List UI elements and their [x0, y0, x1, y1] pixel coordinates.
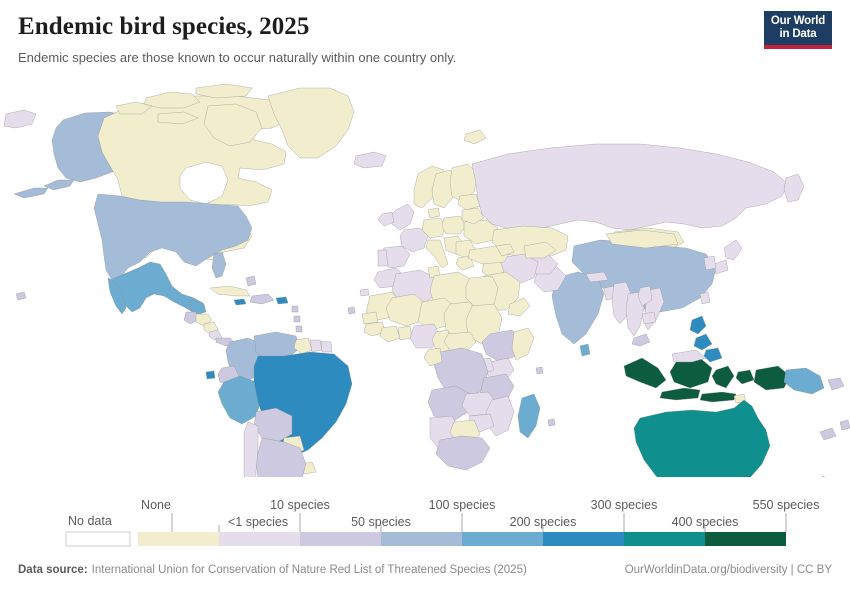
owid-logo-line2: in Data: [780, 28, 817, 41]
legend-swatch-none[interactable]: [138, 532, 219, 546]
island-mauritius[interactable]: [548, 419, 555, 426]
country-sumatra[interactable]: [624, 358, 666, 388]
legend-swatch-50[interactable]: [381, 532, 462, 546]
country-south-africa[interactable]: [436, 436, 490, 470]
country-papua-new-guinea[interactable]: [784, 368, 824, 394]
world-choropleth-map[interactable]: [0, 82, 850, 477]
country-greenland[interactable]: [268, 88, 354, 158]
country-japan[interactable]: [724, 240, 742, 260]
country-suriname[interactable]: [310, 340, 322, 352]
country-us-florida[interactable]: [212, 252, 226, 278]
legend-label-550: 550 species: [753, 498, 820, 512]
island-svalbard[interactable]: [464, 130, 486, 144]
country-sulawesi[interactable]: [712, 366, 734, 388]
legend-label-lt1: <1 species: [228, 515, 288, 529]
data-source-text: International Union for Conservation of …: [92, 564, 527, 576]
country-philippines-1[interactable]: [690, 316, 706, 334]
country-lesser-sunda[interactable]: [700, 392, 736, 402]
country-philippines-3[interactable]: [704, 348, 722, 362]
country-russia[interactable]: [472, 144, 788, 230]
country-united-states[interactable]: [94, 194, 252, 280]
legend-swatch-400[interactable]: [705, 532, 786, 546]
island-cape-verde[interactable]: [348, 307, 355, 314]
country-madagascar[interactable]: [518, 394, 540, 438]
country-bolivia[interactable]: [254, 408, 292, 442]
country-philippines-2[interactable]: [694, 334, 712, 350]
country-united-kingdom[interactable]: [392, 204, 414, 230]
legend-no-data-swatch[interactable]: [66, 532, 130, 546]
country-aleutians-west[interactable]: [14, 188, 48, 198]
country-senegal[interactable]: [362, 312, 378, 324]
country-baltics[interactable]: [458, 194, 480, 210]
country-java[interactable]: [660, 388, 700, 400]
country-iceland[interactable]: [354, 152, 386, 168]
country-hispaniola[interactable]: [250, 294, 274, 304]
chart-footer: Data source: International Union for Con…: [18, 564, 832, 576]
chart-header: Endemic bird species, 2025 Endemic speci…: [18, 12, 832, 66]
country-french-guiana[interactable]: [321, 341, 332, 352]
country-australia[interactable]: [634, 400, 770, 477]
country-cambodia[interactable]: [642, 312, 656, 324]
country-jamaica[interactable]: [234, 299, 246, 305]
page-title: Endemic bird species, 2025: [18, 12, 832, 42]
legend-label-10: 10 species: [270, 498, 330, 512]
legend-swatch-300[interactable]: [624, 532, 705, 546]
country-lesser-antilles-3[interactable]: [296, 326, 302, 332]
country-solomon-islands[interactable]: [828, 378, 844, 390]
country-borneo-indonesia[interactable]: [670, 358, 712, 388]
legend-label-400: 400 species: [672, 515, 739, 529]
legend-swatch-lt1[interactable]: [219, 532, 300, 546]
country-taiwan[interactable]: [700, 292, 710, 304]
country-bahamas[interactable]: [246, 276, 256, 286]
island-hawaii[interactable]: [16, 292, 26, 300]
country-cote-divoire[interactable]: [380, 326, 400, 342]
country-somalia[interactable]: [512, 328, 534, 360]
country-maluku[interactable]: [736, 370, 754, 384]
country-cuba[interactable]: [210, 286, 250, 296]
country-lesser-antilles-1[interactable]: [292, 306, 298, 312]
legend-swatch-200[interactable]: [543, 532, 624, 546]
country-lesser-antilles-2[interactable]: [294, 316, 300, 322]
legend-label-50: 50 species: [351, 515, 411, 529]
country-denmark[interactable]: [428, 208, 440, 218]
country-chukotka-wrap[interactable]: [4, 110, 36, 128]
country-japan-south[interactable]: [714, 260, 728, 274]
legend-label-300: 300 species: [591, 498, 658, 512]
legend-label-200: 200 species: [510, 515, 577, 529]
country-aleutians[interactable]: [44, 180, 74, 190]
country-new-caledonia[interactable]: [820, 428, 836, 440]
country-malaysia[interactable]: [632, 334, 650, 346]
country-sri-lanka[interactable]: [580, 344, 590, 356]
country-italy[interactable]: [426, 240, 448, 268]
legend-swatch-10[interactable]: [300, 532, 381, 546]
footer-attribution[interactable]: OurWorldinData.org/biodiversity | CC BY: [625, 564, 832, 576]
island-canaries[interactable]: [360, 289, 369, 296]
data-source-label: Data source:: [18, 564, 88, 576]
country-nepal[interactable]: [586, 272, 608, 282]
map-legend[interactable]: No data None <1 species 10 species 50 sp…: [0, 495, 850, 557]
legend-no-data-label: No data: [68, 514, 112, 528]
country-new-zealand-north[interactable]: [810, 476, 830, 477]
country-fiji[interactable]: [840, 420, 850, 430]
country-kamchatka[interactable]: [784, 174, 804, 202]
island-galapagos[interactable]: [206, 371, 215, 379]
legend-label-100: 100 species: [429, 498, 496, 512]
island-seychelles[interactable]: [536, 367, 543, 374]
legend-swatch-100[interactable]: [462, 532, 543, 546]
country-ireland[interactable]: [378, 212, 394, 226]
country-korea[interactable]: [704, 256, 716, 270]
country-guyana[interactable]: [294, 338, 312, 354]
country-puerto-rico[interactable]: [276, 297, 288, 304]
legend-label-none: None: [141, 498, 171, 512]
chart-subtitle: Endemic species are those known to occur…: [18, 49, 832, 66]
owid-logo[interactable]: Our World in Data: [764, 11, 832, 49]
owid-logo-line1: Our World: [771, 15, 825, 28]
